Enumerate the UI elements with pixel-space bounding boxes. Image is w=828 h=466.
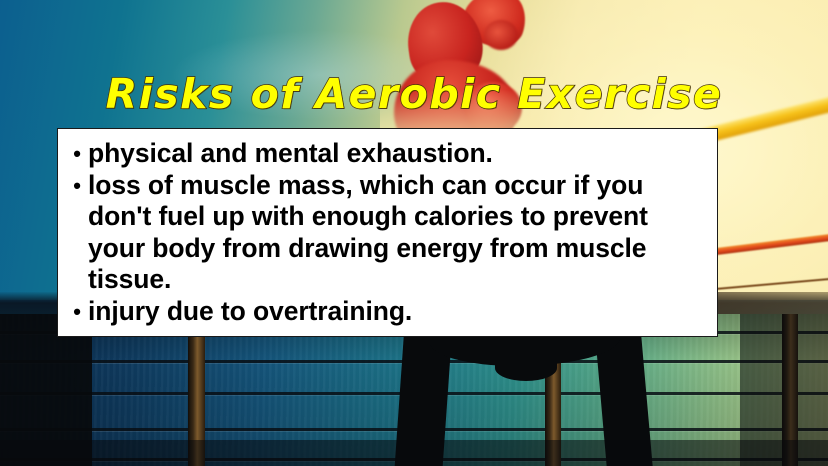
- content-box: • physical and mental exhaustion. • loss…: [57, 128, 718, 337]
- list-item: • loss of muscle mass, which can occur i…: [66, 170, 707, 296]
- bullet-marker-icon: •: [66, 138, 88, 170]
- bullet-marker-icon: •: [66, 296, 88, 328]
- silhouette-crotch: [495, 355, 557, 381]
- boxer-ponytail-tip-icon: [484, 20, 518, 50]
- list-item-text: loss of muscle mass, which can occur if …: [88, 170, 707, 296]
- list-item-text: physical and mental exhaustion.: [88, 138, 707, 170]
- list-item: • physical and mental exhaustion.: [66, 138, 707, 170]
- foreground-deck: [0, 440, 828, 466]
- risk-bullet-list: • physical and mental exhaustion. • loss…: [66, 138, 707, 327]
- slide-canvas: Risks of Aerobic Exercise • physical and…: [0, 0, 828, 466]
- page-title: Risks of Aerobic Exercise: [0, 74, 828, 115]
- list-item: • injury due to overtraining.: [66, 296, 707, 328]
- list-item-text: injury due to overtraining.: [88, 296, 707, 328]
- bullet-marker-icon: •: [66, 170, 88, 202]
